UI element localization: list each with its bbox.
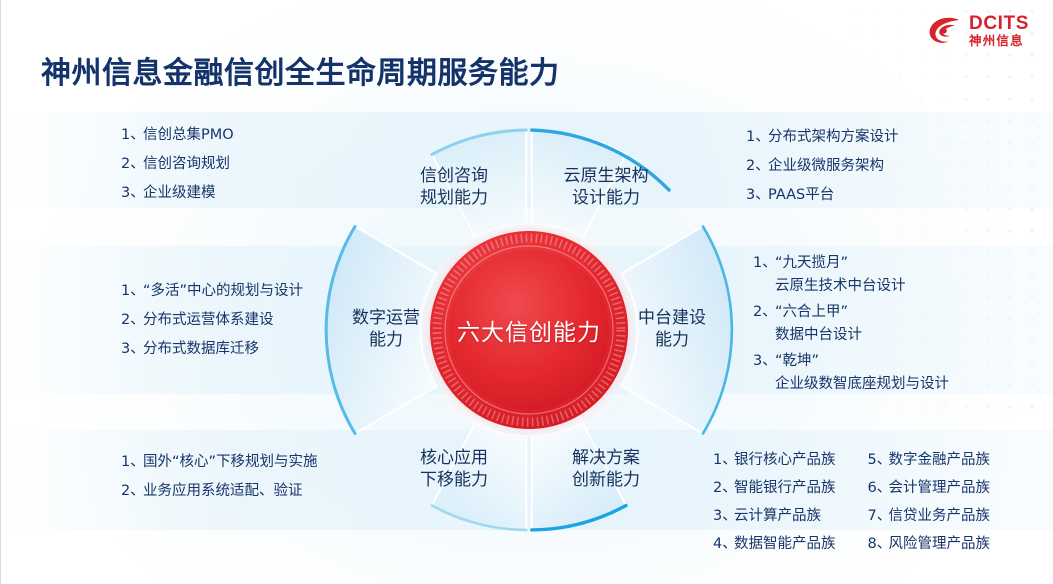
list-item: 2、 分布式运营体系建设 (121, 313, 303, 329)
list-item-text: “多活”中心的规划与设计 (143, 284, 303, 300)
six-capability-donut: 六大信创能力 信创咨询规划能力 云原生架构设计能力 中台建设能力 解决方案创新能… (329, 130, 729, 530)
list-item-text: 企业级建模 (143, 186, 234, 202)
list-item-subtext: 数据中台设计 (775, 328, 949, 344)
logo-text-cn: 神州信息 (969, 35, 1029, 48)
list-item: 2、 企业级微服务架构 (746, 159, 899, 175)
list-item-number: 1、 (753, 256, 775, 272)
list-item-text: 风险管理产品族 (889, 532, 991, 553)
list-item-number: 6、 (868, 476, 889, 497)
list-item-text: “九天揽月” (775, 256, 949, 272)
list-item-text: 国外“核心”下移规划与实施 (143, 455, 318, 471)
list-item: 1、 “多活”中心的规划与设计 (121, 284, 303, 300)
list-item: 6、 会计管理产品族 (868, 476, 991, 497)
list-item-text: “六合上甲” (775, 305, 949, 321)
list-item: 3、 PAAS平台 (746, 188, 899, 204)
list-item-number: 1、 (121, 284, 143, 300)
list-item-text: 数据智能产品族 (734, 532, 836, 553)
list-item-text: 企业级微服务架构 (768, 159, 899, 175)
list-item-subtext: 企业级数智底座规划与设计 (775, 377, 949, 393)
list-item: 2、 智能银行产品族 (713, 476, 836, 497)
list-item-number: 3、 (753, 354, 775, 370)
list-item-text: 云计算产品族 (734, 504, 821, 525)
list-mid-right: 1、 “九天揽月” 云原生技术中台设计 2、 “六合上甲” 数据中台设计 3、 … (753, 256, 949, 403)
list-item-number: 3、 (121, 342, 143, 358)
brand-logo: DCITS 神州信息 (928, 14, 1029, 48)
logo-text-en: DCITS (969, 14, 1029, 33)
list-item-number: 2、 (746, 159, 768, 175)
list-item: 1、 分布式架构方案设计 (746, 130, 899, 146)
list-item-number: 5、 (868, 448, 889, 469)
list-item-number: 1、 (746, 130, 768, 146)
list-item: 1、 信创总集PMO (121, 128, 234, 144)
list-item: 3、 “乾坤” (753, 354, 949, 370)
list-item-text: 智能银行产品族 (734, 476, 836, 497)
product-family-lists: 1、 银行核心产品族 2、 智能银行产品族 3、 云计算产品族 4、 数据智能产… (713, 448, 990, 553)
list-item-number: 2、 (121, 157, 143, 173)
list-item-number: 3、 (746, 188, 768, 204)
product-family-column-left: 1、 银行核心产品族 2、 智能银行产品族 3、 云计算产品族 4、 数据智能产… (713, 448, 836, 553)
list-item: 1、 “九天揽月” (753, 256, 949, 272)
slide-canvas: DCITS 神州信息 神州信息金融信创全生命周期服务能力 (0, 0, 1053, 584)
list-item-number: 1、 (121, 128, 143, 144)
list-item: 1、 银行核心产品族 (713, 448, 836, 469)
list-item: 2、 业务应用系统适配、验证 (121, 484, 318, 500)
list-item: 2、 “六合上甲” (753, 305, 949, 321)
list-item: 3、 企业级建模 (121, 186, 234, 202)
product-family-column-right: 5、 数字金融产品族 6、 会计管理产品族 7、 信贷业务产品族 8、 风险管理… (868, 448, 991, 553)
list-item-number: 2、 (121, 484, 143, 500)
list-item-number: 2、 (753, 305, 775, 321)
list-item-text: 数字金融产品族 (889, 448, 991, 469)
list-item-text: 信贷业务产品族 (889, 504, 991, 525)
list-item: 1、 国外“核心”下移规划与实施 (121, 455, 318, 471)
list-item-text: 银行核心产品族 (734, 448, 836, 469)
list-item-number: 3、 (713, 504, 734, 525)
list-item-text: 分布式运营体系建设 (143, 313, 303, 329)
list-mid-left: 1、 “多活”中心的规划与设计 2、 分布式运营体系建设 3、 分布式数据库迁移 (121, 284, 303, 371)
list-item-text: 会计管理产品族 (889, 476, 991, 497)
list-item-number: 1、 (713, 448, 734, 469)
dcits-swoosh-icon (928, 16, 962, 46)
list-item-subtext: 云原生技术中台设计 (775, 279, 949, 295)
list-item: 2、 信创咨询规划 (121, 157, 234, 173)
list-top-right: 1、 分布式架构方案设计 2、 企业级微服务架构 3、 PAAS平台 (746, 130, 899, 217)
list-item-number: 7、 (868, 504, 889, 525)
list-item: 8、 风险管理产品族 (868, 532, 991, 553)
list-item-number: 8、 (868, 532, 889, 553)
donut-svg (329, 130, 729, 530)
list-item-text: 信创咨询规划 (143, 157, 234, 173)
list-item: 4、 数据智能产品族 (713, 532, 836, 553)
list-item: 3、 云计算产品族 (713, 504, 836, 525)
list-item-number: 2、 (713, 476, 734, 497)
page-title: 神州信息金融信创全生命周期服务能力 (41, 48, 560, 92)
list-item-number: 3、 (121, 186, 143, 202)
list-item-number: 4、 (713, 532, 734, 553)
list-item-number: 2、 (121, 313, 143, 329)
list-item-text: “乾坤” (775, 354, 949, 370)
list-top-left: 1、 信创总集PMO 2、 信创咨询规划 3、 企业级建模 (121, 128, 234, 215)
list-item: 7、 信贷业务产品族 (868, 504, 991, 525)
list-item-text: 分布式架构方案设计 (768, 130, 899, 146)
list-item: 3、 分布式数据库迁移 (121, 342, 303, 358)
list-item-text: 分布式数据库迁移 (143, 342, 303, 358)
list-item-number: 1、 (121, 455, 143, 471)
core-face (449, 250, 609, 410)
list-item: 5、 数字金融产品族 (868, 448, 991, 469)
list-bottom-left: 1、 国外“核心”下移规划与实施 2、 业务应用系统适配、验证 (121, 455, 318, 513)
list-item-text: 信创总集PMO (143, 128, 234, 144)
list-item-text: PAAS平台 (768, 188, 899, 204)
list-item-text: 业务应用系统适配、验证 (143, 484, 318, 500)
